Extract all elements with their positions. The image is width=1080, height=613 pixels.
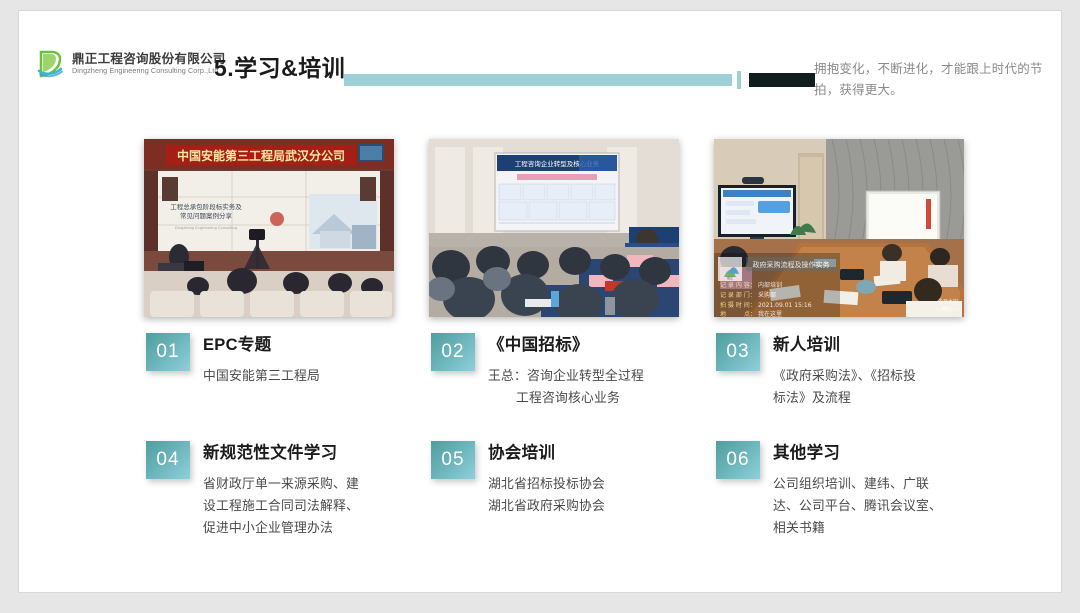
training-item-02[interactable]: 02 《中国招标》 王总：咨询企业转型全过程 工程咨询核心业务 [431, 333, 693, 409]
title-underline-bar [344, 74, 732, 86]
svg-text:今日水印: 今日水印 [938, 298, 958, 305]
item-desc-line: 促进中小企业管理办法 [203, 517, 359, 539]
item-desc-line: 《政府采购法》、《招标投 [773, 365, 916, 387]
training-item-03[interactable]: 03 新人培训 《政府采购法》、《招标投 标法》及流程 [716, 333, 978, 409]
item-title: EPC专题 [203, 334, 320, 356]
item-desc-line: 中国安能第三工程局 [203, 365, 320, 387]
item-desc-line: 湖北省招标投标协会 [488, 473, 605, 495]
header-tagline: 拥抱变化，不断进化，才能跟上时代的节拍，获得更大。 [814, 59, 1054, 101]
item-title: 新人培训 [773, 334, 916, 356]
item-title: 协会培训 [488, 442, 605, 464]
dark-accent-block [749, 73, 815, 87]
svg-text:中国安能第三工程局武汉分公司: 中国安能第三工程局武汉分公司 [177, 148, 345, 163]
item-desc-line: 达、公司平台、腾讯会议室、 [773, 495, 942, 517]
accent-tick [737, 71, 741, 89]
item-desc-line: 王总：咨询企业转型全过程 [488, 365, 644, 387]
page-title: 5.学习&培训 [214, 49, 345, 83]
item-desc-line: 设工程施工合同司法解释、 [203, 495, 359, 517]
svg-text:常见问题案例分享: 常见问题案例分享 [180, 211, 233, 220]
training-item-04[interactable]: 04 新规范性文件学习 省财政厅单一来源采购、建 设工程施工合同司法解释、 促进… [146, 441, 408, 539]
item-number-badge: 05 [431, 441, 475, 479]
brand-name-cn: 鼎正工程咨询股份有限公司 [72, 52, 226, 66]
item-description: 省财政厅单一来源采购、建 设工程施工合同司法解释、 促进中小企业管理办法 [203, 473, 359, 539]
item-title: 其他学习 [773, 442, 942, 464]
item-description: 《政府采购法》、《招标投 标法》及流程 [773, 365, 916, 409]
svg-text:鼎正: 鼎正 [727, 275, 733, 280]
training-item-05[interactable]: 05 协会培训 湖北省招标投标协会 湖北省政府采购协会 [431, 441, 693, 517]
svg-text:拍 摄 时 间：: 拍 摄 时 间： [720, 301, 756, 309]
svg-text:记 录 部 门：: 记 录 部 门： [720, 291, 756, 299]
item-title: 《中国招标》 [488, 334, 644, 356]
training-item-01[interactable]: 01 EPC专题 中国安能第三工程局 [146, 333, 408, 387]
training-item-06[interactable]: 06 其他学习 公司组织培训、建纬、广联 达、公司平台、腾讯会议室、 相关书籍 [716, 441, 978, 539]
svg-text:采购部: 采购部 [758, 291, 776, 299]
item-number-badge: 01 [146, 333, 190, 371]
slide-header: 鼎正工程咨询股份有限公司 Dingzheng Engineering Consu… [19, 41, 1061, 101]
item-number-badge: 03 [716, 333, 760, 371]
svg-text:Dingzheng Engineering Consulti: Dingzheng Engineering Consulting [175, 226, 237, 230]
svg-text:我在这里: 我在这里 [758, 310, 782, 317]
item-desc-line: 标法》及流程 [773, 387, 916, 409]
photo-newcomer-training: 鼎正 政府采购流程及操作实务 记 录 内 容： 内部培训 记 录 部 门： 采购… [714, 139, 964, 317]
item-desc-line: 省财政厅单一来源采购、建 [203, 473, 359, 495]
item-description: 公司组织培训、建纬、广联 达、公司平台、腾讯会议室、 相关书籍 [773, 473, 942, 539]
item-number-badge: 04 [146, 441, 190, 479]
svg-text:地 点：: 地 点： [720, 310, 756, 317]
item-number-badge: 06 [716, 441, 760, 479]
item-desc-line: 湖北省政府采购协会 [488, 495, 605, 517]
svg-text:记 录 内 容：: 记 录 内 容： [720, 281, 756, 289]
item-description: 中国安能第三工程局 [203, 365, 320, 387]
svg-text:政府采购流程及操作实务: 政府采购流程及操作实务 [753, 260, 830, 269]
item-description: 湖北省招标投标协会 湖北省政府采购协会 [488, 473, 605, 517]
item-desc-line: 相关书籍 [773, 517, 942, 539]
svg-text:内部培训: 内部培训 [758, 281, 782, 289]
svg-text:2021.09.01 15:16: 2021.09.01 15:16 [758, 302, 812, 309]
item-desc-line: 公司组织培训、建纬、广联 [773, 473, 942, 495]
leaf-d-logo-icon [35, 49, 65, 79]
photo-row: 中国安能第三工程局武汉分公司 工程总承包阶段标实务及 常见问题案例分享 Ding… [19, 139, 1061, 319]
item-title: 新规范性文件学习 [203, 442, 359, 464]
photo-china-tender-training: 工程咨询企业转型及核心业务 [429, 139, 679, 317]
item-description: 王总：咨询企业转型全过程 工程咨询核心业务 [488, 365, 644, 409]
svg-text:— 相机 —: — 相机 — [935, 306, 958, 313]
brand-name-en: Dingzheng Engineering Consulting Corp.,L… [72, 66, 226, 76]
slide-canvas: 鼎正工程咨询股份有限公司 Dingzheng Engineering Consu… [18, 10, 1062, 593]
item-number-badge: 02 [431, 333, 475, 371]
svg-text:工程总承包阶段标实务及: 工程总承包阶段标实务及 [170, 202, 242, 211]
photo-epc-seminar: 中国安能第三工程局武汉分公司 工程总承包阶段标实务及 常见问题案例分享 Ding… [144, 139, 394, 317]
item-desc-line: 工程咨询核心业务 [488, 387, 644, 409]
company-brand: 鼎正工程咨询股份有限公司 Dingzheng Engineering Consu… [35, 49, 226, 79]
